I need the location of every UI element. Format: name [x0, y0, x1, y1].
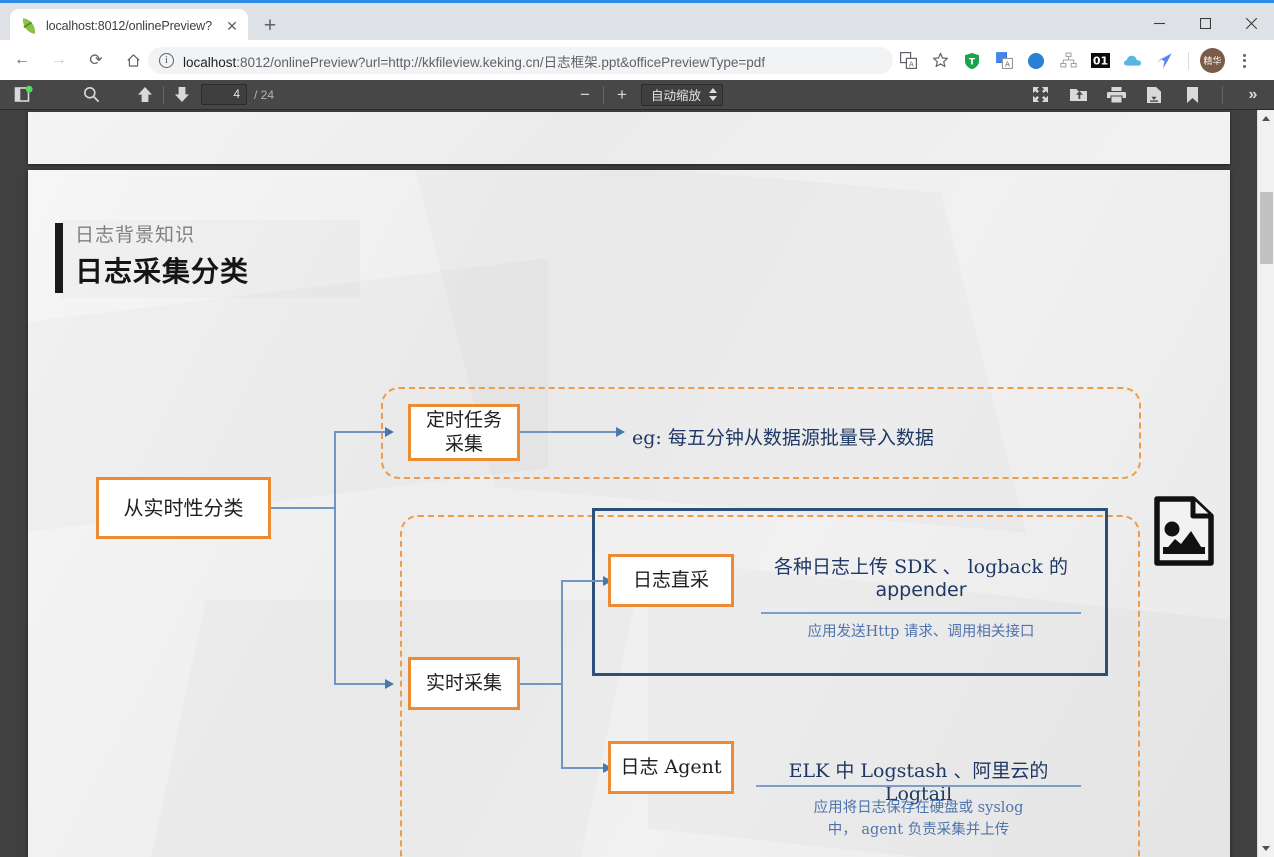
bookmark-icon[interactable]	[1179, 83, 1205, 107]
zoom-in-button[interactable]: +	[609, 83, 635, 107]
home-button[interactable]	[118, 45, 148, 75]
connector-to-direct	[561, 580, 604, 582]
connector-to-agent	[561, 767, 604, 769]
agent-collect-box: 日志 Agent	[608, 741, 734, 794]
realtime-collect-box: 实时采集	[408, 657, 520, 710]
sidebar-toggle-icon[interactable]	[10, 83, 36, 107]
scroll-up-arrow[interactable]	[1258, 110, 1274, 127]
cloud-extension-icon[interactable]	[1119, 48, 1145, 74]
broken-image-placeholder-icon	[1153, 495, 1215, 567]
tab-title: localhost:8012/onlinePreview?	[46, 19, 222, 33]
connector-root-vertical	[334, 432, 336, 685]
url-host: localhost	[183, 55, 236, 70]
root-category-box: 从实时性分类	[96, 477, 271, 539]
chrome-menu-icon[interactable]	[1231, 48, 1257, 74]
direct-collect-divider	[761, 612, 1081, 614]
pdf-page-current: 日志背景知识 日志采集分类 从实时性分类 定时任务 采集	[28, 170, 1230, 857]
back-button[interactable]: ←	[7, 45, 37, 75]
translate-page-icon[interactable]: A	[895, 48, 921, 74]
address-bar[interactable]: i localhost:8012/onlinePreview?url=http:…	[148, 47, 893, 74]
page-number-input[interactable]: 4	[201, 84, 247, 105]
connector-scheduled-to-example	[520, 431, 617, 433]
print-icon[interactable]	[1103, 83, 1129, 107]
previous-page-icon[interactable]	[132, 83, 158, 107]
slide-title: 日志采集分类	[75, 250, 249, 290]
zoom-select-value: 自动缩放	[651, 85, 701, 104]
shield-extension-icon[interactable]: T	[959, 48, 985, 74]
maximize-icon[interactable]	[1182, 6, 1228, 40]
zoom-select[interactable]: 自动缩放	[641, 84, 723, 106]
kite-extension-icon[interactable]	[1151, 48, 1177, 74]
scheduled-task-label-line1: 定时任务	[426, 409, 502, 433]
scroll-down-arrow[interactable]	[1258, 840, 1274, 857]
svg-text:01: 01	[1092, 55, 1107, 68]
url-text: localhost:8012/onlinePreview?url=http://…	[183, 51, 765, 71]
url-rest: :8012/onlinePreview?url=http://kkfilevie…	[236, 55, 765, 70]
chevron-updown-icon	[709, 88, 717, 101]
avatar[interactable]: 精华	[1200, 48, 1225, 73]
toolbar-separator	[163, 86, 164, 104]
minimize-icon[interactable]	[1136, 6, 1182, 40]
svg-text:A: A	[1005, 60, 1010, 68]
leaf-icon	[20, 18, 38, 34]
svg-text:A: A	[909, 60, 914, 68]
tab-close-icon[interactable]: ✕	[222, 16, 242, 36]
agent-collect-note-line2: 中， agent 负责采集并上传	[756, 818, 1081, 839]
scroll-thumb[interactable]	[1260, 192, 1273, 264]
browser-toolbar: ← → ⟳ i localhost:8012/onlinePreview?url…	[0, 40, 1274, 80]
connector-root-horizontal	[271, 507, 336, 509]
scheduled-task-box: 定时任务 采集	[408, 404, 520, 461]
close-icon[interactable]	[1228, 6, 1274, 40]
direct-collect-note: 应用发送Http 请求、调用相关接口	[761, 620, 1081, 641]
arrow-scheduled-example	[616, 427, 625, 437]
direct-collect-desc-line2: appender	[761, 579, 1081, 601]
svg-text:T: T	[969, 57, 976, 67]
download-icon[interactable]	[1141, 83, 1167, 107]
direct-collect-box: 日志直采	[608, 554, 734, 607]
presentation-mode-icon[interactable]	[1027, 83, 1053, 107]
slide-subtitle: 日志背景知识	[75, 220, 195, 247]
zoom-separator	[603, 86, 604, 104]
connector-to-realtime	[334, 683, 386, 685]
site-info-icon[interactable]: i	[159, 53, 174, 68]
agent-collect-divider	[756, 785, 1081, 787]
extension-icons: A T A 01	[895, 47, 1257, 74]
title-accent-bar	[55, 223, 63, 293]
google-translate-icon[interactable]: A	[991, 48, 1017, 74]
toolbar-divider	[1188, 52, 1189, 70]
root-category-label: 从实时性分类	[124, 496, 244, 521]
zoom-out-button[interactable]: −	[572, 83, 598, 107]
bookmark-star-icon[interactable]	[927, 48, 953, 74]
arrow-to-scheduled	[385, 427, 394, 437]
circle-extension-icon[interactable]	[1023, 48, 1049, 74]
direct-collect-label: 日志直采	[633, 569, 709, 593]
agent-collect-label: 日志 Agent	[620, 756, 721, 780]
search-icon[interactable]	[78, 83, 104, 107]
tab-strip: localhost:8012/onlinePreview? ✕ +	[0, 0, 1274, 40]
new-tab-button[interactable]: +	[256, 12, 284, 40]
pdf-page-previous	[28, 112, 1230, 164]
pdf-viewer-toolbar: 4 / 24 − + 自动缩放	[0, 80, 1274, 110]
scheduled-example-text: eg: 每五分钟从数据源批量导入数据	[632, 423, 934, 450]
browser-window: localhost:8012/onlinePreview? ✕ + ← → ⟳ …	[0, 0, 1274, 857]
right-separator	[1222, 86, 1223, 104]
realtime-collect-label: 实时采集	[426, 672, 502, 696]
pdf-viewer-canvas[interactable]: 日志背景知识 日志采集分类 从实时性分类 定时任务 采集	[0, 110, 1274, 857]
page-count-label: / 24	[254, 88, 274, 102]
agent-collect-note-line1: 应用将日志保存在硬盘或 syslog	[756, 796, 1081, 817]
connector-realtime-vertical	[561, 581, 563, 769]
reload-button[interactable]: ⟳	[81, 45, 111, 75]
forward-button[interactable]: →	[44, 45, 74, 75]
vertical-scrollbar[interactable]	[1257, 110, 1274, 857]
window-controls	[1136, 6, 1274, 40]
more-tools-icon[interactable]: »	[1240, 83, 1266, 107]
connector-to-scheduled	[334, 431, 386, 433]
arrow-to-realtime	[385, 679, 394, 689]
scheduled-task-label-line2: 采集	[445, 433, 483, 457]
next-page-icon[interactable]	[169, 83, 195, 107]
sitemap-extension-icon[interactable]	[1055, 48, 1081, 74]
open-file-icon[interactable]	[1065, 83, 1091, 107]
zero-one-extension-icon[interactable]: 01	[1087, 48, 1113, 74]
connector-realtime-horizontal	[520, 683, 563, 685]
direct-collect-desc-line1: 各种日志上传 SDK 、 logback 的	[761, 552, 1081, 579]
browser-tab[interactable]: localhost:8012/onlinePreview? ✕	[10, 9, 248, 43]
